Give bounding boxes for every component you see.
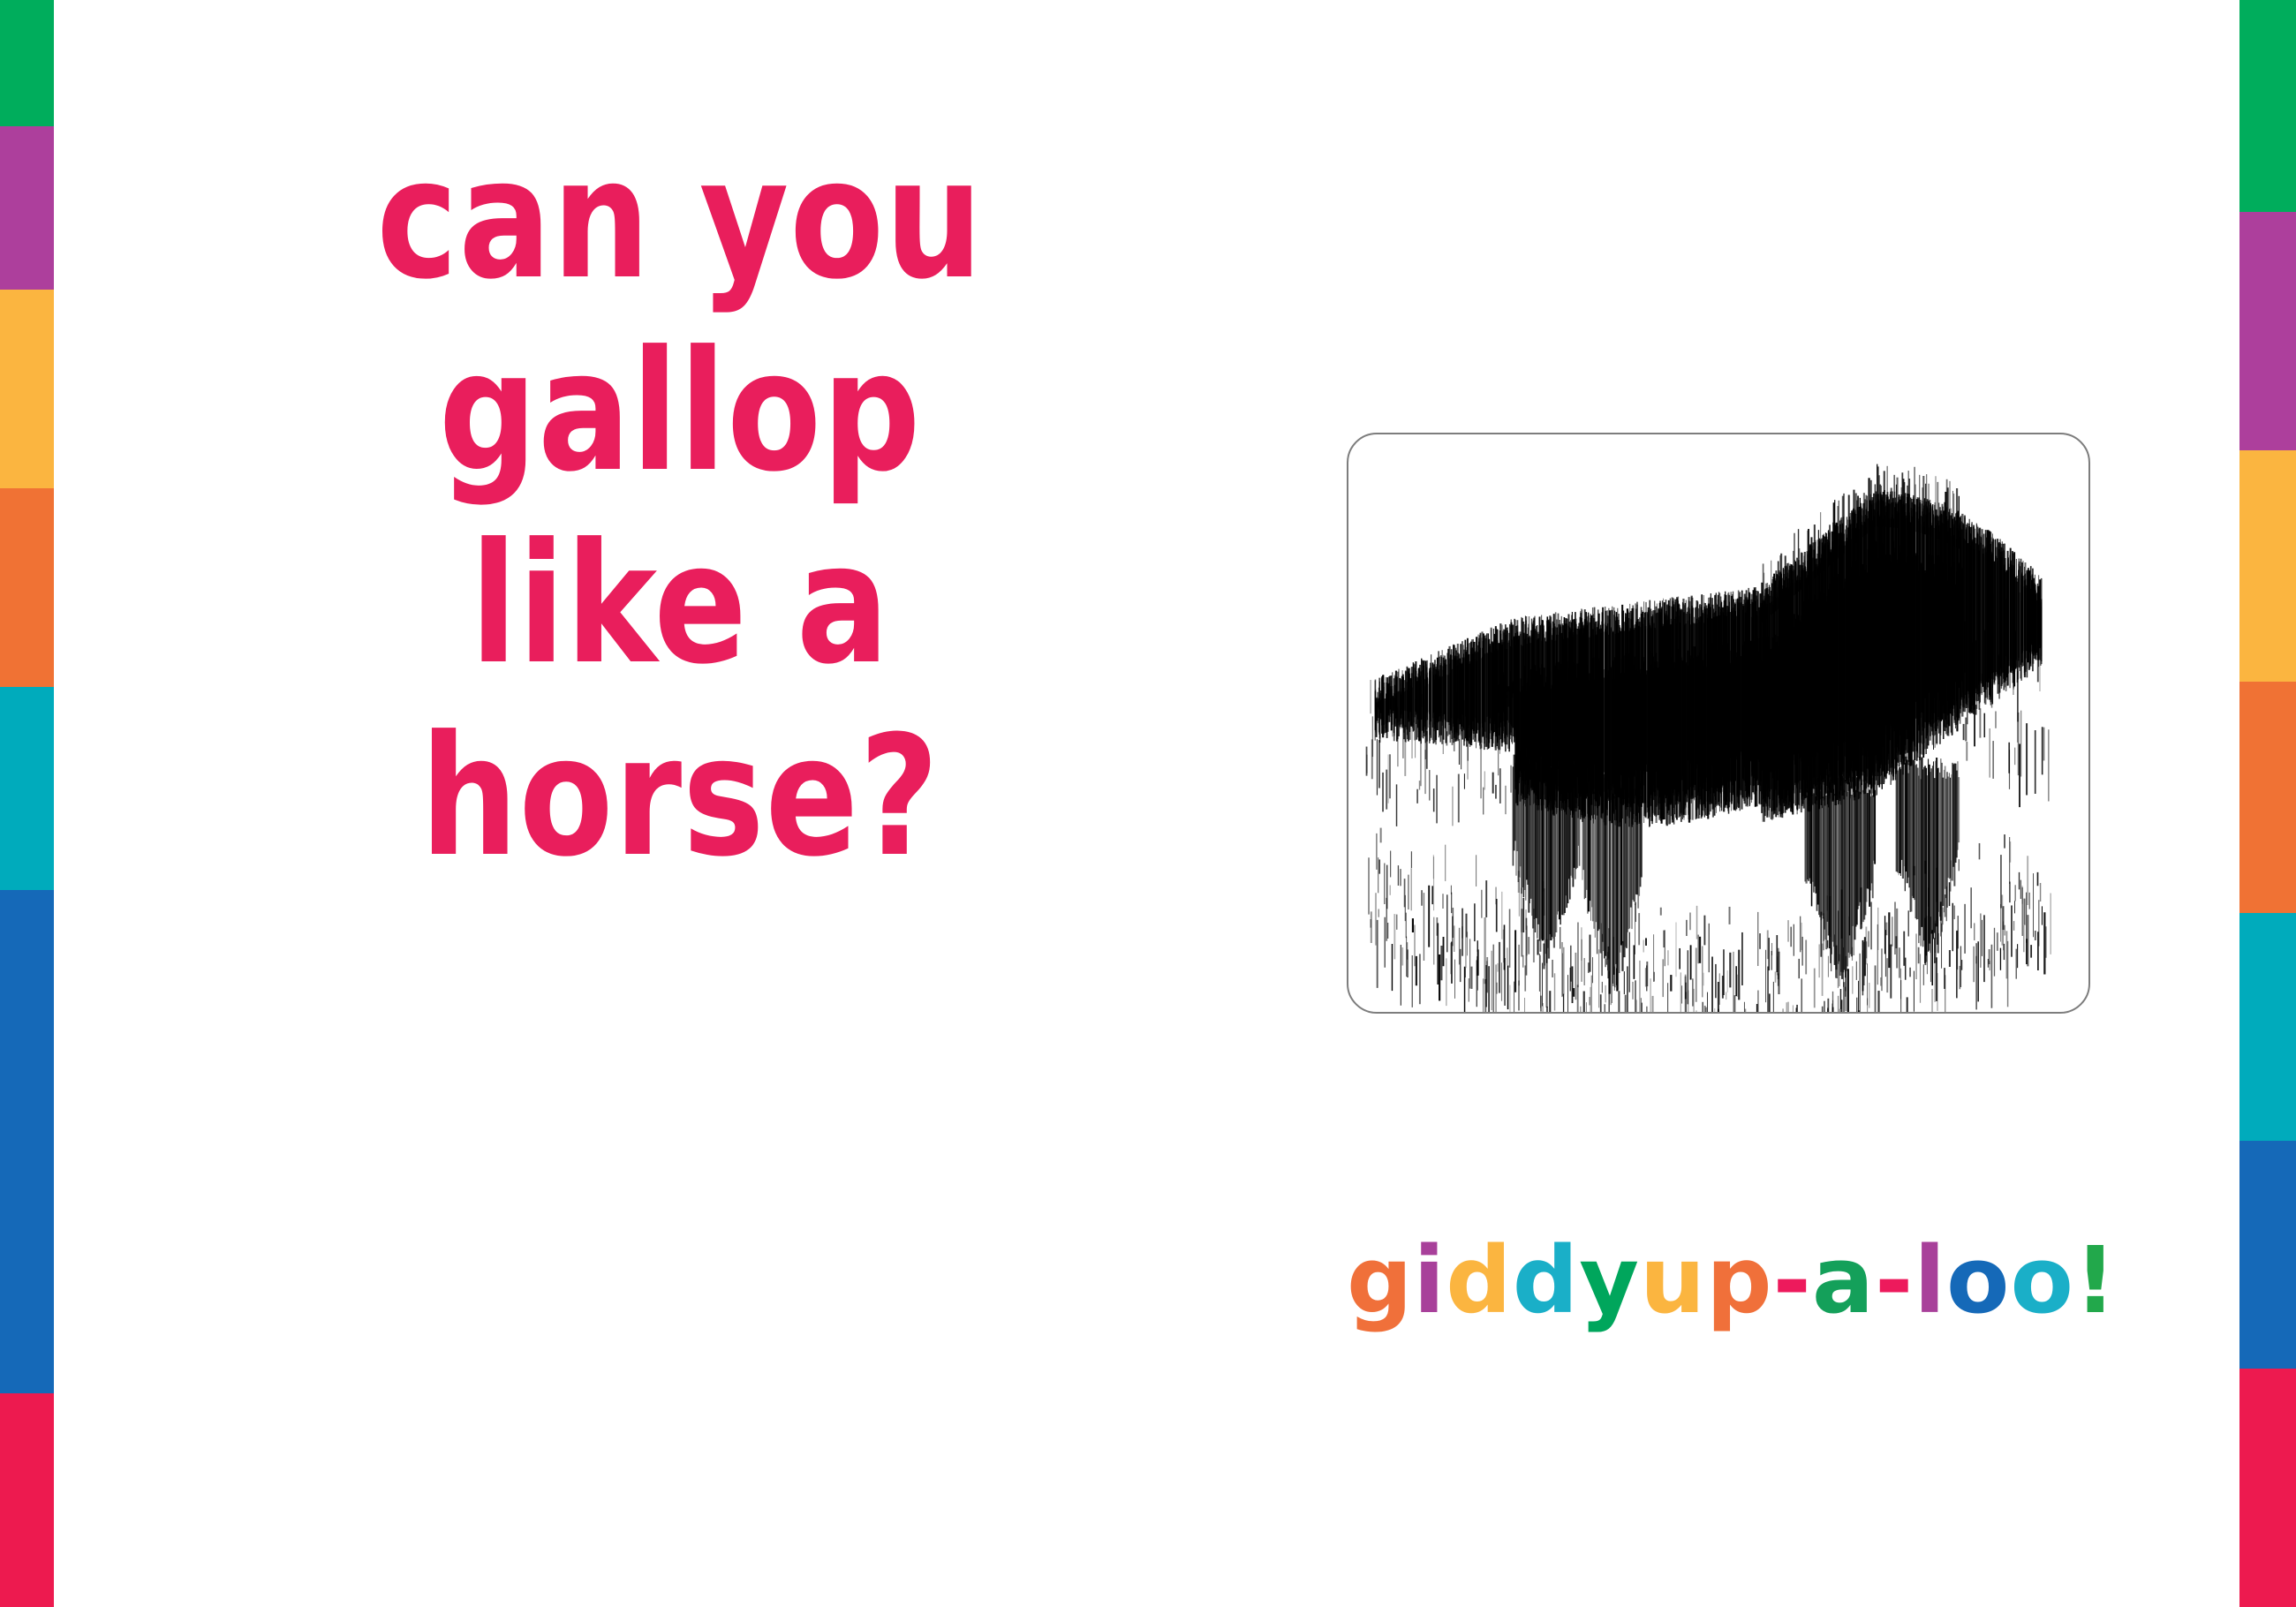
caption-char-6: p bbox=[1706, 1234, 1773, 1326]
caption-char-11: o bbox=[1946, 1234, 2011, 1326]
caption-char-12: o bbox=[2011, 1234, 2075, 1326]
caption-char-2: d bbox=[1446, 1234, 1513, 1326]
stripe-band-pink bbox=[2239, 1369, 2296, 1607]
stripe-band-orange bbox=[2239, 682, 2296, 913]
caption-char-0: g bbox=[1347, 1234, 1414, 1326]
stripe-band-green bbox=[0, 0, 54, 126]
headline-line-1: can you bbox=[200, 124, 1159, 316]
caption-char-1: i bbox=[1414, 1234, 1446, 1326]
stripe-band-teal bbox=[0, 687, 54, 890]
caption-char-5: u bbox=[1640, 1234, 1706, 1326]
stripe-band-purple bbox=[0, 126, 54, 290]
caption-char-9: - bbox=[1875, 1234, 1914, 1326]
caption-char-8: a bbox=[1812, 1234, 1875, 1326]
stripe-band-blue bbox=[0, 890, 54, 1393]
caption-char-13: ! bbox=[2074, 1234, 2117, 1326]
galloping-horse-icon bbox=[1348, 434, 2088, 1012]
caption-giddyup: giddyup-a-loo! bbox=[1347, 1234, 2106, 1326]
stripe-band-pink bbox=[0, 1393, 54, 1607]
caption-char-4: y bbox=[1579, 1234, 1640, 1326]
stripe-rail-right bbox=[2239, 0, 2296, 1607]
caption-char-7: - bbox=[1773, 1234, 1812, 1326]
stripe-band-orange bbox=[0, 488, 54, 687]
caption-char-3: d bbox=[1513, 1234, 1580, 1326]
stripe-band-green bbox=[2239, 0, 2296, 212]
headline-line-3: like a bbox=[200, 509, 1159, 701]
flashcard-page: can you gallop like a horse? giddyup-a-l… bbox=[0, 0, 2296, 1607]
stripe-band-yellow bbox=[0, 290, 54, 488]
caption-char-10: l bbox=[1914, 1234, 1946, 1326]
stripe-band-blue bbox=[2239, 1141, 2296, 1369]
horse-illustration-card bbox=[1347, 433, 2090, 1014]
stripe-band-purple bbox=[2239, 212, 2296, 450]
headline-line-2: gallop bbox=[200, 316, 1159, 509]
page-title: can you gallop like a horse? bbox=[159, 124, 1201, 894]
stripe-rail-left bbox=[0, 0, 54, 1607]
stripe-band-yellow bbox=[2239, 450, 2296, 682]
stripe-band-teal bbox=[2239, 913, 2296, 1141]
headline-line-4: horse? bbox=[200, 701, 1159, 894]
